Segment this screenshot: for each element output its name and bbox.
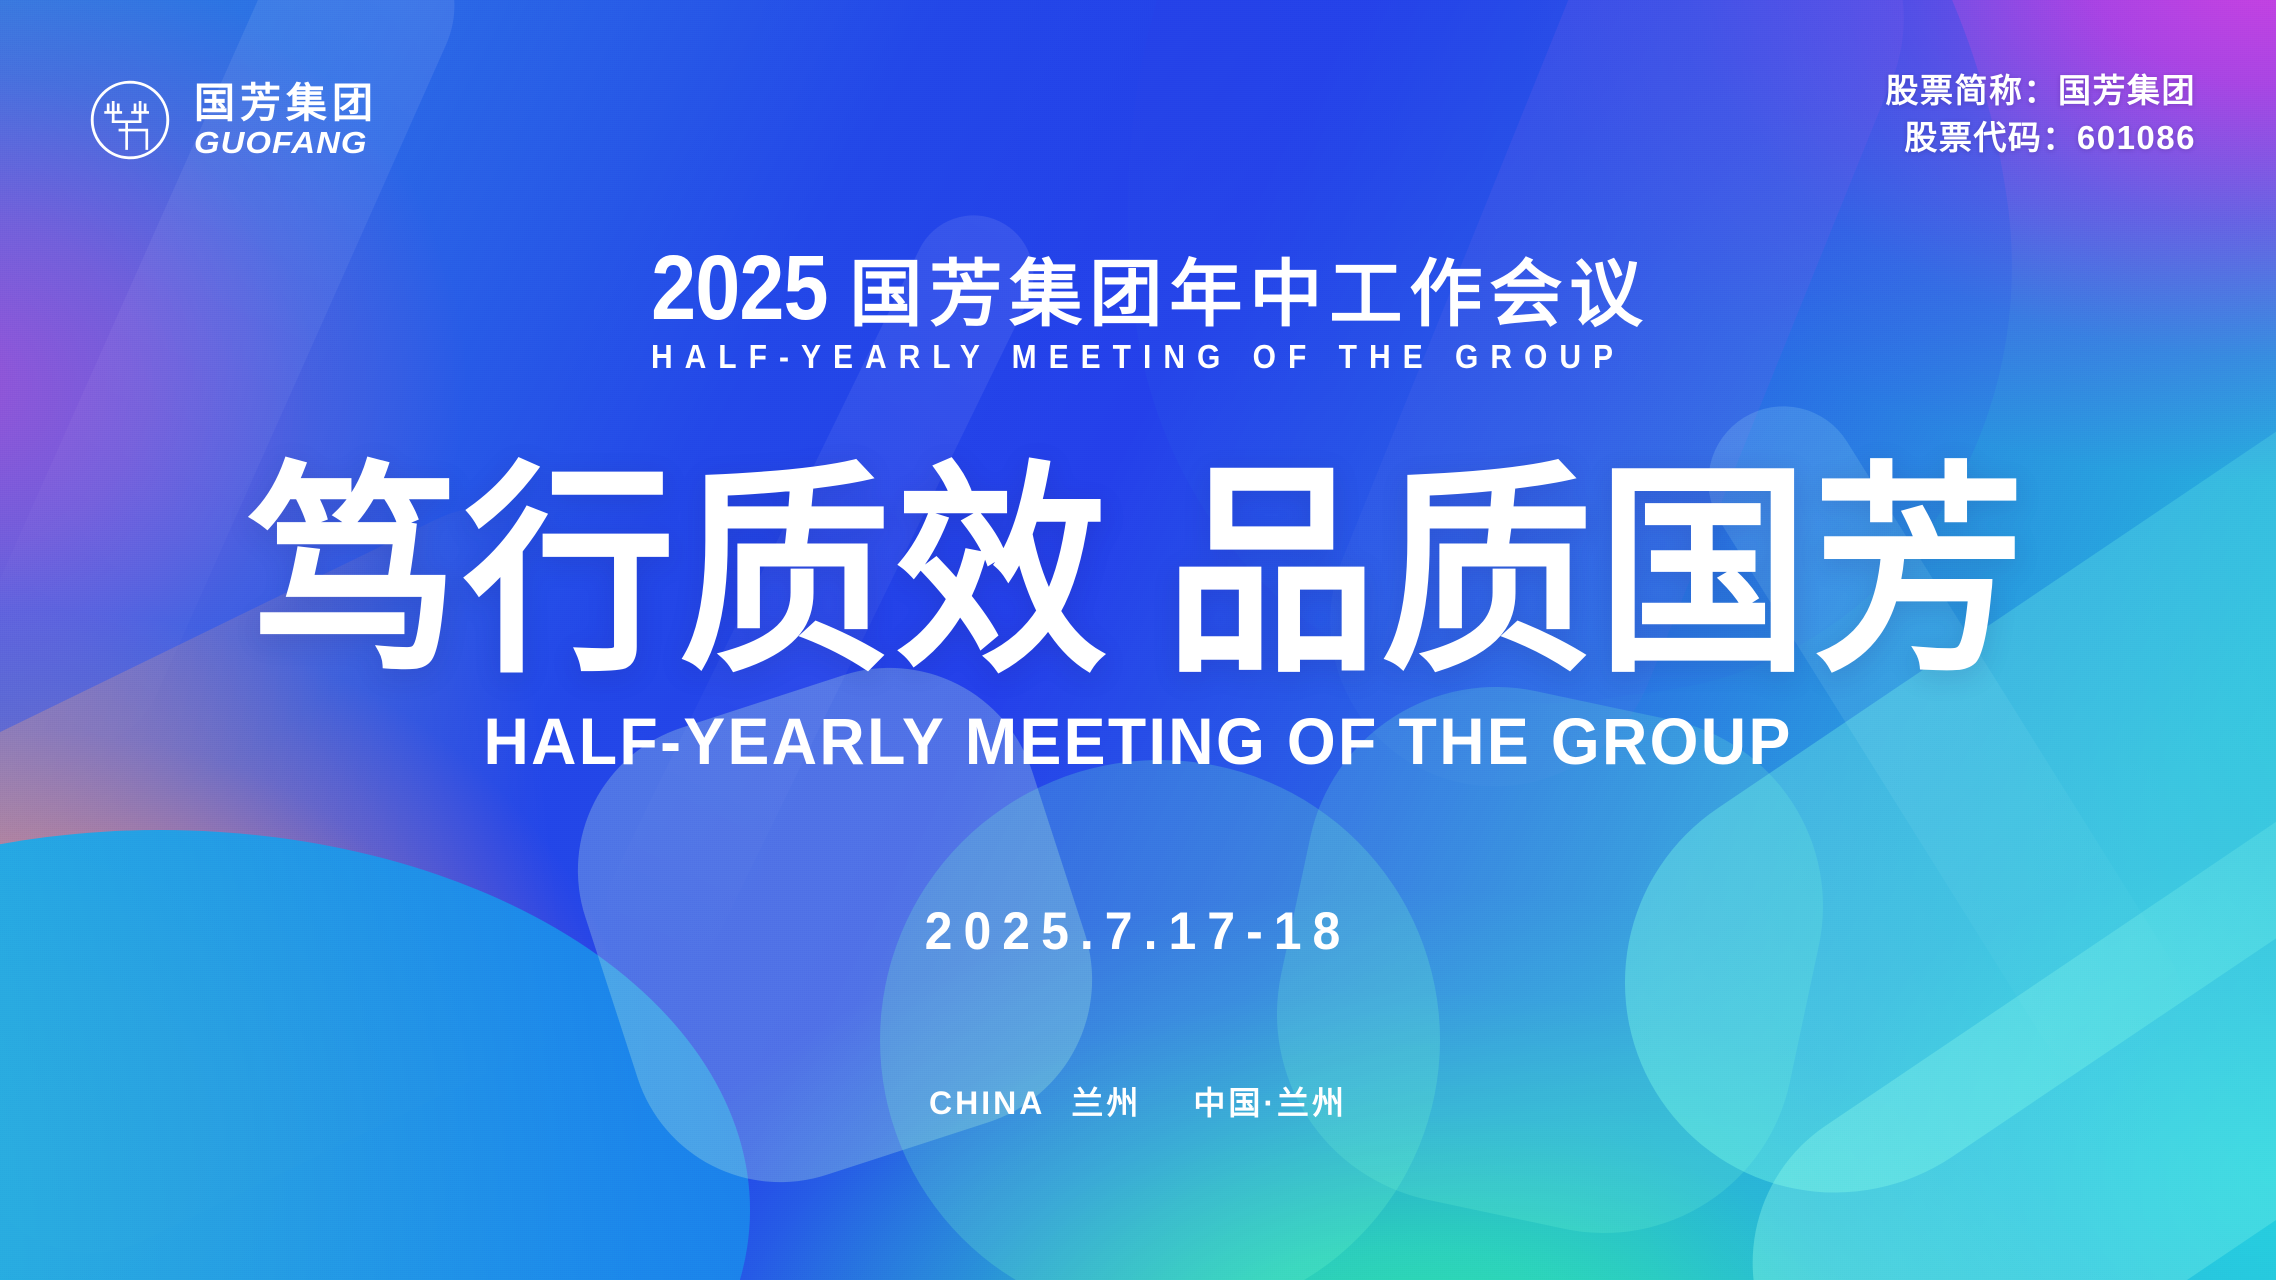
meeting-title-row: 2025 国芳集团年中工作会议 xyxy=(627,246,1650,331)
event-location-full-cn: 中国·兰州 xyxy=(1193,1085,1347,1121)
brand-name-cn: 国芳集团 xyxy=(194,83,378,124)
stock-name-line: 股票简称：国芳集团 xyxy=(1886,68,2197,115)
event-location: CHINA兰州中国·兰州 xyxy=(929,1078,1347,1124)
stock-info: 股票简称：国芳集团 股票代码：601086 xyxy=(1886,68,2197,162)
meeting-title-cn: 国芳集团年中工作会议 xyxy=(849,258,1649,331)
hero-slogan-block: 笃行质效品质国芳 HALF-YEARLY MEETING OF THE GROU… xyxy=(0,465,2276,779)
event-location-city-cn: 兰州 xyxy=(1071,1085,1141,1121)
brand-logo: 国芳集团 GUOFANG xyxy=(88,78,378,162)
hero-subtitle-en: HALF-YEARLY MEETING OF THE GROUP xyxy=(483,703,1792,779)
brand-name-en: GUOFANG xyxy=(194,127,389,158)
banner-content: 国芳集团 GUOFANG 股票简称：国芳集团 股票代码：601086 2025 … xyxy=(0,0,2276,1280)
event-location-country-en: CHINA xyxy=(929,1085,1045,1121)
meeting-title-en: HALF-YEARLY MEETING OF THE GROUP xyxy=(651,339,1625,377)
stock-code-line: 股票代码：601086 xyxy=(1886,115,2197,162)
guofang-circular-emblem-icon xyxy=(88,78,172,162)
event-date: 2025.7.17-18 xyxy=(925,901,1352,962)
meeting-year: 2025 xyxy=(651,246,828,331)
hero-slogan-phrase-1: 笃行质效 xyxy=(247,447,1111,698)
event-location-block: CHINA兰州中国·兰州 xyxy=(0,1078,2276,1124)
event-date-block: 2025.7.17-18 xyxy=(0,902,2276,960)
hero-slogan: 笃行质效品质国芳 xyxy=(247,459,2029,688)
hero-slogan-phrase-2: 品质国芳 xyxy=(1165,447,2029,698)
conference-banner: 国芳集团 GUOFANG 股票简称：国芳集团 股票代码：601086 2025 … xyxy=(0,0,2276,1280)
brand-wordmark: 国芳集团 GUOFANG xyxy=(194,83,378,158)
meeting-title-block: 2025 国芳集团年中工作会议 HALF-YEARLY MEETING OF T… xyxy=(0,246,2276,375)
